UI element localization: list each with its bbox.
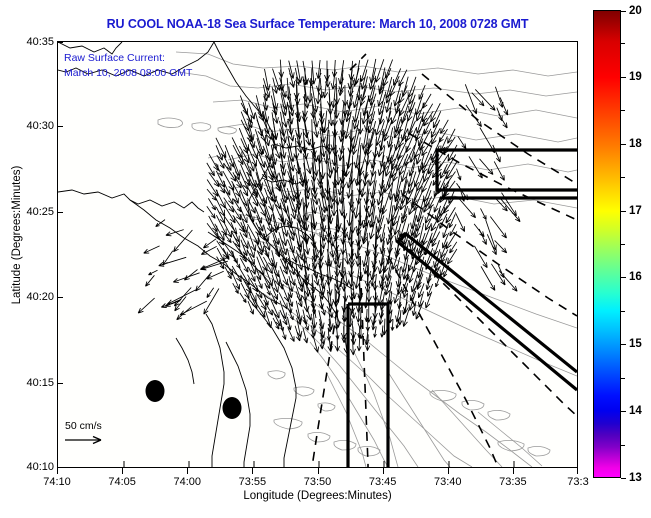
- y-tick-label: 40:30: [26, 120, 54, 132]
- colorbar-tick-label: 14: [629, 405, 642, 417]
- current-vector: [353, 68, 359, 87]
- current-vector: [240, 293, 246, 303]
- current-vector: [311, 275, 316, 293]
- sst-map-figure: RU COOL NOAA-18 Sea Surface Temperature:…: [0, 0, 651, 518]
- current-vector: [208, 198, 215, 210]
- current-vector: [146, 275, 155, 286]
- colorbar-minor-tick-mark: [621, 244, 625, 245]
- current-vector: [474, 224, 484, 237]
- current-vector: [166, 230, 184, 236]
- x-axis-title: Longitude (Degrees:Minutes): [57, 490, 578, 502]
- y-tick-label: 40:25: [26, 206, 54, 218]
- colorbar-tick-label: 19: [629, 71, 642, 83]
- current-vector: [494, 161, 504, 180]
- vector-scale-legend: 50 cm/s: [63, 420, 109, 451]
- current-vector: [495, 87, 503, 108]
- current-vector: [216, 145, 222, 160]
- raw-current-annotation: Raw Surface Current: March 10, 2008 08:0…: [64, 51, 192, 81]
- colorbar-tick-mark: [621, 344, 626, 345]
- current-vector: [408, 163, 415, 187]
- current-vector: [345, 145, 351, 177]
- y-tick-mark: [57, 126, 63, 127]
- current-vector: [241, 103, 252, 123]
- current-vector: [196, 272, 212, 291]
- current-vector: [418, 292, 423, 308]
- current-vector: [207, 180, 218, 197]
- current-vector: [354, 60, 360, 84]
- current-vector: [232, 206, 241, 220]
- current-vector: [394, 68, 401, 85]
- y-tick-mark: [57, 297, 63, 298]
- x-tick-mark: [577, 468, 578, 474]
- current-vector: [351, 336, 356, 355]
- y-tick-mark: [57, 467, 63, 468]
- x-tick-mark: [383, 468, 384, 474]
- y-tick-label: 40:35: [26, 36, 54, 48]
- y-tick-mark: [57, 212, 63, 213]
- x-tick-label: 74:05: [108, 476, 136, 488]
- y-tick-label: 40:15: [26, 377, 54, 389]
- current-vector: [207, 288, 214, 298]
- current-vector: [271, 284, 278, 299]
- current-vector: [223, 171, 234, 190]
- current-vector: [138, 298, 154, 313]
- current-vector: [263, 198, 271, 221]
- colorbar-tick-label: 16: [629, 271, 642, 283]
- colorbar-tick-mark: [621, 478, 626, 479]
- radar-station-marker: [146, 380, 165, 402]
- current-vector: [499, 114, 508, 128]
- current-vector: [248, 267, 255, 282]
- current-vector: [344, 267, 349, 286]
- current-vector: [305, 301, 312, 320]
- x-tick-mark: [187, 468, 188, 474]
- colorbar-tick-label: 15: [629, 338, 642, 350]
- x-tick-mark: [252, 468, 253, 474]
- page-title: RU COOL NOAA-18 Sea Surface Temperature:…: [57, 17, 578, 31]
- current-vector: [491, 264, 505, 285]
- coastline: [58, 42, 354, 467]
- current-vector: [432, 232, 440, 247]
- current-vector: [379, 129, 384, 151]
- current-vector: [296, 250, 302, 270]
- y-axis: 40:3540:3040:2540:2040:1540:10: [0, 41, 54, 468]
- surface-current-vectors: [138, 59, 520, 355]
- x-tick-mark: [513, 468, 514, 474]
- current-vector: [455, 212, 464, 231]
- current-vector: [225, 267, 232, 279]
- current-vector: [255, 207, 262, 224]
- radar-station-marker: [223, 397, 242, 419]
- current-vector: [357, 145, 362, 173]
- current-vector: [474, 246, 487, 268]
- current-vector: [426, 275, 431, 290]
- current-vector: [272, 137, 281, 158]
- y-tick-label: 40:20: [26, 291, 54, 303]
- y-axis-inner-ticks: [57, 41, 67, 468]
- current-vector: [184, 270, 197, 281]
- current-vector: [441, 120, 449, 134]
- colorbar-tick-mark: [621, 211, 626, 212]
- current-vector: [144, 246, 160, 253]
- current-vector: [446, 207, 456, 223]
- current-vector: [323, 78, 328, 98]
- current-vector: [416, 301, 424, 320]
- current-vector: [248, 301, 254, 314]
- x-tick-label: 73:50: [304, 476, 332, 488]
- colorbar-minor-tick-mark: [621, 43, 625, 44]
- current-vector: [448, 129, 456, 144]
- x-tick-mark: [318, 468, 319, 474]
- colorbar-gradient: [593, 10, 621, 478]
- colorbar-tick-mark: [621, 277, 626, 278]
- current-vector: [411, 275, 417, 293]
- colorbar-tick-label: 17: [629, 205, 642, 217]
- radar-station-markers: [146, 380, 242, 419]
- map-plot-area: Raw Surface Current: March 10, 2008 08:0…: [57, 41, 578, 468]
- current-vector: [225, 145, 234, 167]
- current-vector: [364, 292, 368, 308]
- current-vector: [459, 198, 476, 218]
- x-tick-label: 73:3: [567, 476, 588, 488]
- x-tick-label: 74:00: [173, 476, 201, 488]
- y-tick-label: 40:10: [26, 461, 54, 473]
- x-tick-mark: [122, 468, 123, 474]
- x-tick-label: 73:40: [434, 476, 462, 488]
- current-vector: [392, 104, 401, 124]
- current-vector: [351, 327, 356, 345]
- current-vector: [402, 77, 408, 97]
- current-vector: [216, 198, 225, 216]
- current-vector: [203, 239, 216, 248]
- current-vector: [342, 293, 347, 313]
- current-vector: [173, 273, 199, 283]
- y-axis-title: Latitude (Degrees:Minutes): [11, 125, 23, 345]
- colorbar-minor-tick-mark: [621, 311, 625, 312]
- current-vector: [490, 217, 506, 239]
- current-vector: [288, 258, 294, 275]
- current-vector: [362, 120, 369, 149]
- current-vector: [288, 328, 295, 342]
- inner-axis-ticks: [124, 461, 514, 467]
- current-vector: [209, 216, 218, 232]
- current-vector: [402, 249, 408, 272]
- colorbar-tick-mark: [621, 144, 626, 145]
- raw-current-annotation-line1: Raw Surface Current:: [64, 51, 192, 66]
- current-vector: [417, 103, 425, 122]
- current-vector: [353, 95, 359, 123]
- x-tick-mark: [448, 468, 449, 474]
- current-vector: [481, 208, 487, 219]
- current-vector: [313, 336, 318, 353]
- colorbar-tick-label: 13: [629, 472, 642, 484]
- map-graphics: [58, 42, 577, 467]
- colorbar-tick-mark: [621, 77, 626, 78]
- current-vector: [335, 335, 339, 351]
- current-vector: [472, 93, 484, 106]
- current-vector: [365, 233, 370, 257]
- raw-current-annotation-line2: March 10, 2008 08:00 GMT: [64, 66, 192, 81]
- scale-legend-label: 50 cm/s: [65, 420, 109, 432]
- current-vector: [304, 172, 310, 199]
- current-vector: [502, 193, 517, 216]
- current-vector: [457, 169, 461, 181]
- current-vector: [265, 267, 272, 286]
- current-vector: [224, 189, 233, 205]
- current-vector: [233, 257, 240, 269]
- colorbar-minor-tick-mark: [621, 378, 625, 379]
- current-vector: [174, 288, 191, 307]
- colorbar-minor-tick-mark: [621, 445, 625, 446]
- current-vector: [389, 179, 394, 200]
- current-vector: [499, 271, 517, 292]
- current-vector: [207, 163, 215, 176]
- colorbar-tick-label: 18: [629, 138, 642, 150]
- current-vector: [424, 111, 434, 126]
- current-vector: [480, 159, 494, 175]
- colorbar-tick-mark: [621, 11, 626, 12]
- colorbar-tick-label: 20: [629, 5, 642, 17]
- current-vector: [424, 120, 431, 135]
- x-tick-label: 74:10: [43, 476, 71, 488]
- current-vector: [149, 270, 158, 275]
- y-tick-mark: [57, 42, 63, 43]
- x-tick-mark: [57, 468, 58, 474]
- current-vector: [233, 215, 245, 232]
- x-tick-label: 73:35: [499, 476, 527, 488]
- colorbar: 2019181716151413: [593, 10, 621, 478]
- y-tick-mark: [57, 383, 63, 384]
- current-vector: [374, 293, 378, 310]
- current-vector: [215, 231, 224, 245]
- x-tick-label: 73:45: [369, 476, 397, 488]
- x-tick-label: 73:55: [239, 476, 267, 488]
- current-vector: [423, 94, 432, 108]
- current-vector: [273, 233, 280, 255]
- colorbar-minor-tick-mark: [621, 110, 625, 111]
- current-vector: [295, 86, 300, 105]
- colorbar-minor-tick-mark: [621, 177, 625, 178]
- current-vector: [385, 60, 392, 79]
- current-vector: [481, 266, 495, 290]
- colorbar-tick-mark: [621, 411, 626, 412]
- right-arrow-icon: [63, 433, 109, 451]
